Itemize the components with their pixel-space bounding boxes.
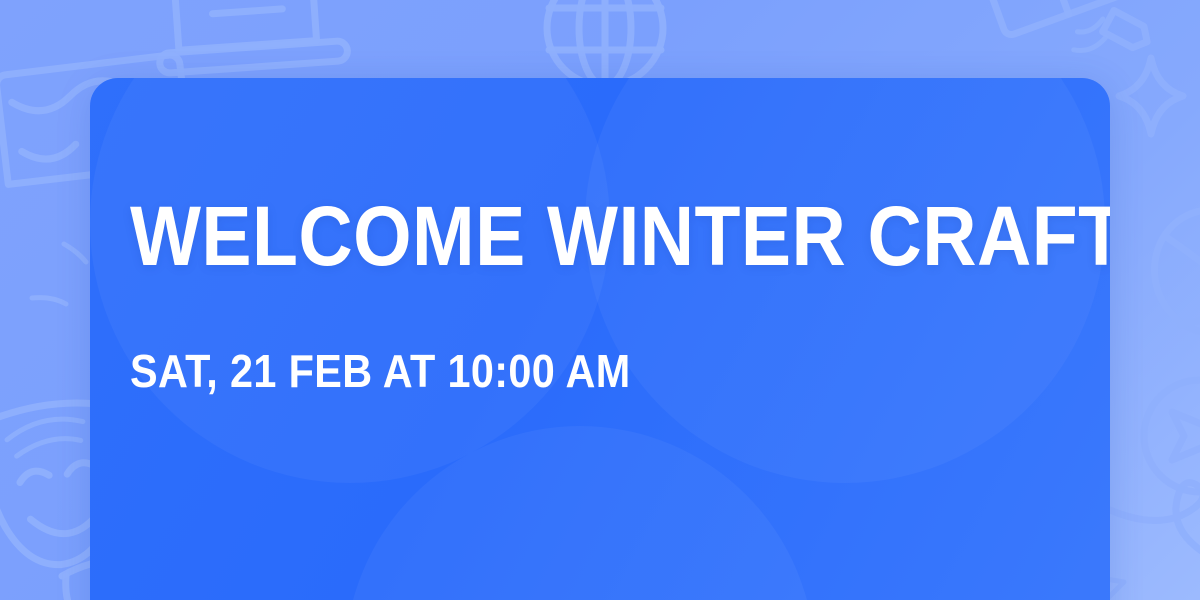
pencil-icon	[1103, 10, 1153, 52]
balloon-icon	[1141, 198, 1200, 405]
event-banner: WELCOME WINTER CRAFT CLASS SAT, 21 FEB A…	[0, 0, 1200, 600]
ribbon-swirl-icon	[1110, 483, 1200, 600]
pencil-icon	[5, 413, 87, 457]
sparkle-icon	[1070, 12, 1112, 60]
confetti-icon	[32, 244, 86, 304]
laptop-icon	[153, 0, 348, 74]
event-title: WELCOME WINTER CRAFT CLASS	[130, 198, 1110, 275]
gift-icon	[963, 0, 1140, 40]
event-datetime: SAT, 21 FEB AT 10:00 AM	[130, 348, 631, 394]
send-icon	[1144, 380, 1200, 492]
event-card: WELCOME WINTER CRAFT CLASS SAT, 21 FEB A…	[90, 78, 1110, 600]
globe-icon	[547, 0, 663, 86]
sparkle-icon	[1119, 58, 1183, 134]
